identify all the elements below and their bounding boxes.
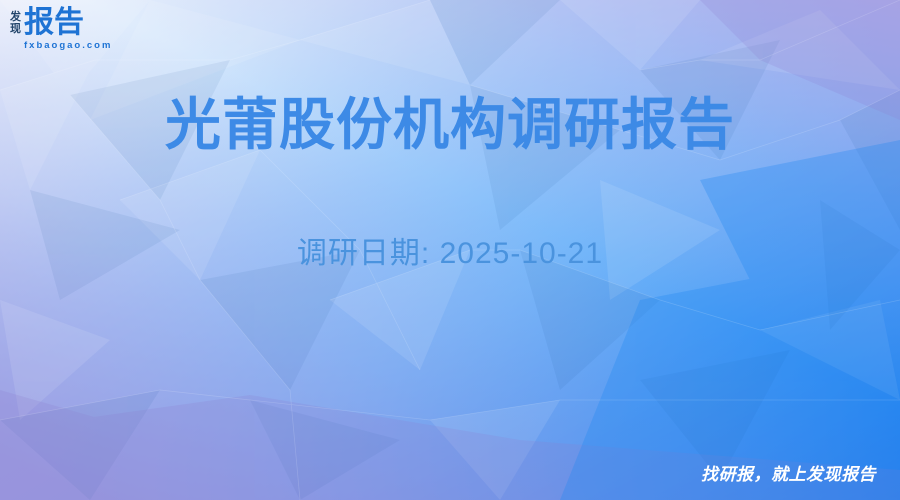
page-title: 光莆股份机构调研报告 (0, 92, 900, 158)
report-cover: 发 现 报告 fxbaogao.com 光莆股份机构调研报告 调研日期: 202… (0, 0, 900, 500)
survey-date-subtitle: 调研日期: 2025-10-21 (0, 234, 900, 274)
logo-text-block: 报告 fxbaogao.com (24, 8, 112, 51)
footer-tagline: 找研报，就上发现报告 (701, 464, 876, 486)
logo-mark-line1: 发 (10, 11, 21, 23)
logo-wordmark: 报告 (24, 8, 112, 38)
site-logo[interactable]: 发 现 报告 fxbaogao.com (10, 8, 112, 52)
logo-mark-line2: 现 (10, 23, 21, 35)
logo-domain: fxbaogao.com (24, 40, 112, 51)
logo-mark: 发 现 (10, 8, 21, 35)
